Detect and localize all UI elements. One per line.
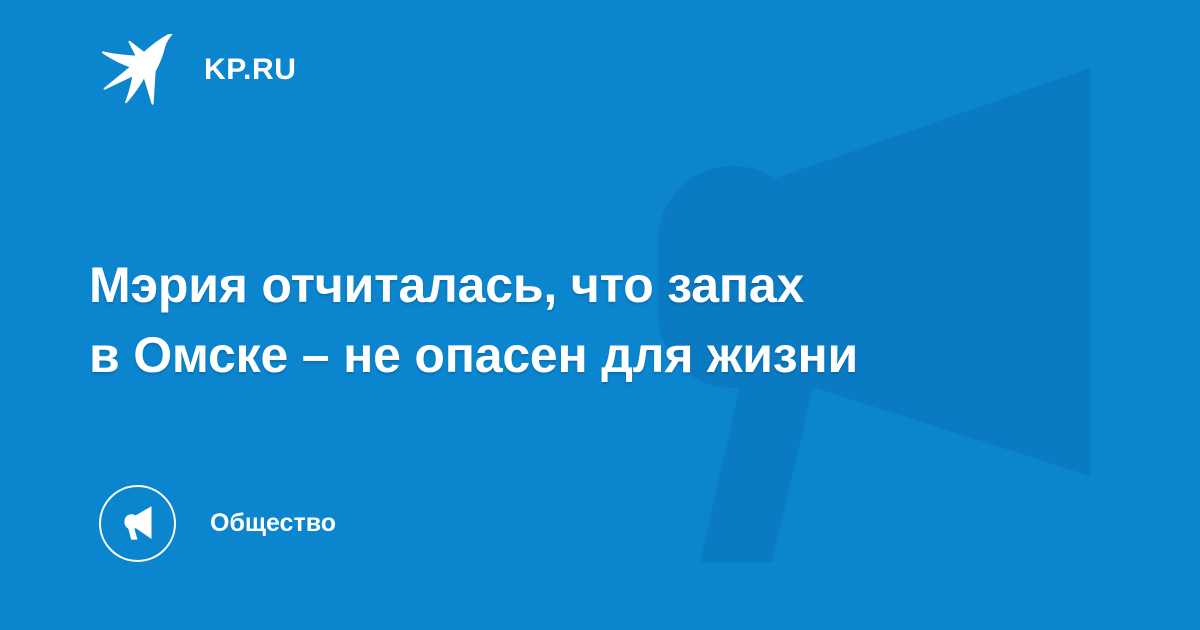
article-share-card: KP.RU Мэрия отчиталась, что запах в Омск… — [0, 0, 1200, 630]
category-icon-circle — [99, 485, 176, 562]
category-badge[interactable]: Общество — [99, 484, 336, 562]
swallow-bird-icon — [100, 34, 176, 106]
brand-logo[interactable]: KP.RU — [100, 34, 296, 106]
category-label: Общество — [210, 511, 336, 536]
megaphone-icon — [117, 502, 159, 544]
brand-wordmark: KP.RU — [204, 55, 296, 85]
page-title: Мэрия отчиталась, что запах в Омске – не… — [89, 250, 1089, 390]
